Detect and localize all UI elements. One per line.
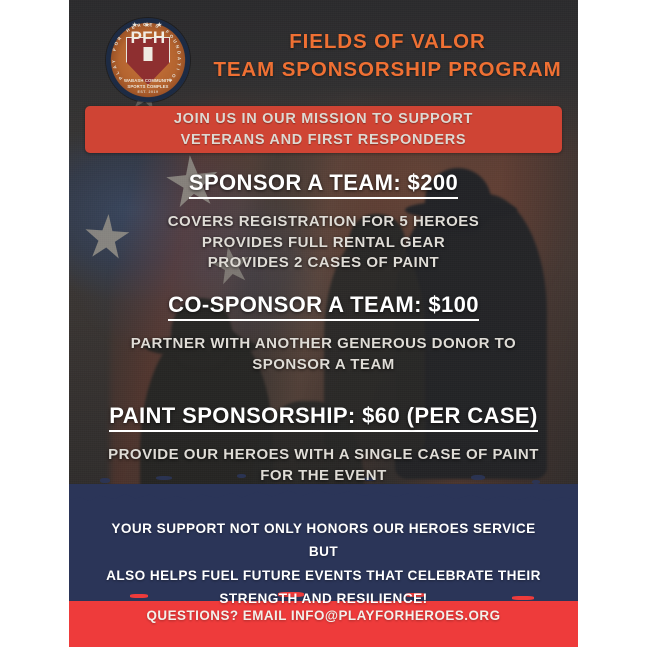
closing-line: ALSO HELPS FUEL FUTURE EVENTS THAT CELEB… [99,564,548,587]
sponsorship-tier: PAINT SPONSORSHIP: $60 (PER CASE) PROVID… [69,403,578,486]
closing-line: YOUR SUPPORT NOT ONLY HONORS OUR HEROES … [99,517,548,564]
logo-shield-stripe [144,47,153,61]
contact-email-text: QUESTIONS? EMAIL INFO@PLAYFORHEROES.ORG [69,608,578,623]
tier-detail-line: PARTNER WITH ANOTHER GENEROUS DONOR TO [69,334,578,355]
mission-line-1: JOIN US IN OUR MISSION TO SUPPORT [174,109,473,130]
poster-page: PLAY FOR HEROES FOUNDATION ★ ★ ★ PFH WAB… [0,0,647,647]
tier-details: COVERS REGISTRATION FOR 5 HEROES PROVIDE… [69,212,578,274]
tier-detail-line: PROVIDES FULL RENTAL GEAR [69,233,578,254]
logo-monogram: PFH [106,29,190,46]
logo-established: EST. 2019 [106,90,190,94]
poster-header: PLAY FOR HEROES FOUNDATION ★ ★ ★ PFH WAB… [69,6,578,98]
tier-heading: SPONSOR A TEAM: $200 [189,170,458,199]
poster-title: FIELDS OF VALOR TEAM SPONSORSHIP PROGRAM [207,28,568,84]
tier-detail-line: PROVIDES 2 CASES OF PAINT [69,253,578,274]
closing-statement: YOUR SUPPORT NOT ONLY HONORS OUR HEROES … [99,517,548,611]
title-line-1: FIELDS OF VALOR [207,28,568,56]
title-line-2: TEAM SPONSORSHIP PROGRAM [207,56,568,84]
pfh-logo: PLAY FOR HEROES FOUNDATION ★ ★ ★ PFH WAB… [106,18,190,102]
logo-subtitle: WABASH COMMUNITYSPORTS COMPLEX [106,78,190,89]
tier-detail-line: FOR THE EVENT [69,466,578,487]
tier-details: PARTNER WITH ANOTHER GENEROUS DONOR TO S… [69,334,578,375]
tier-detail-line: PROVIDE OUR HEROES WITH A SINGLE CASE OF… [69,445,578,466]
tier-details: PROVIDE OUR HEROES WITH A SINGLE CASE OF… [69,445,578,486]
sponsorship-tier: CO-SPONSOR A TEAM: $100 PARTNER WITH ANO… [69,292,578,375]
sponsorship-tier: SPONSOR A TEAM: $200 COVERS REGISTRATION… [69,170,578,274]
tier-detail-line: SPONSOR A TEAM [69,355,578,376]
closing-line: STRENGTH AND RESILIENCE! [99,587,548,610]
poster-content: PLAY FOR HEROES FOUNDATION ★ ★ ★ PFH WAB… [69,0,578,647]
tier-detail-line: COVERS REGISTRATION FOR 5 HEROES [69,212,578,233]
tier-heading: PAINT SPONSORSHIP: $60 (PER CASE) [109,403,537,432]
sponsorship-poster: PLAY FOR HEROES FOUNDATION ★ ★ ★ PFH WAB… [69,0,578,647]
mission-line-2: VETERANS AND FIRST RESPONDERS [181,130,467,151]
mission-banner: JOIN US IN OUR MISSION TO SUPPORT VETERA… [85,106,562,153]
tier-heading: CO-SPONSOR A TEAM: $100 [168,292,479,321]
